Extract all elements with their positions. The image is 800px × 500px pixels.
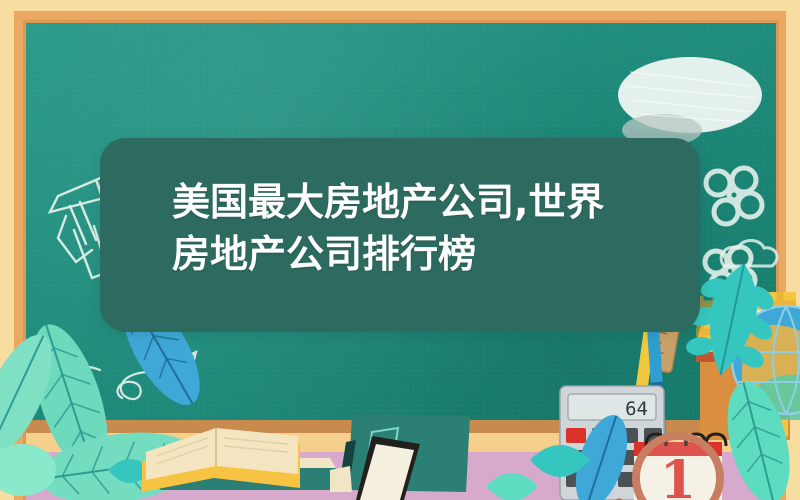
calculator-display-value: 64 <box>625 398 648 420</box>
banner-image: 64 <box>0 0 800 500</box>
page-title: 美国最大房地产公司,世界房地产公司排行榜 <box>172 176 672 280</box>
flower-chalk-drawing-upper <box>706 168 762 224</box>
headline-line-1: 美国最大房地产公司,世界 <box>172 180 604 224</box>
chalk-scribble-smudge <box>618 57 762 146</box>
headline-line-2: 房地产公司排行榜 <box>172 232 476 276</box>
